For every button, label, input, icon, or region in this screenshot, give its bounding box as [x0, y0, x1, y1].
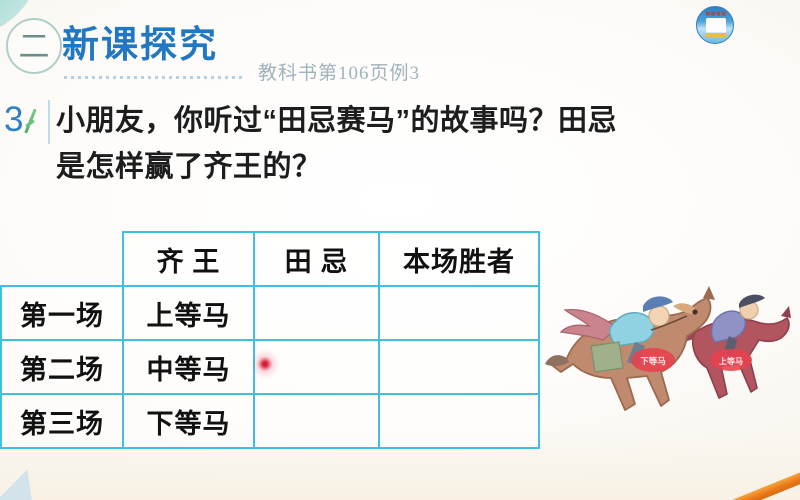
cell-winner-round-1[interactable] [379, 286, 539, 340]
cell-winner-round-3[interactable] [379, 394, 539, 448]
cell-qiwang-round-1: 上等马 [123, 286, 254, 340]
column-header-tianji: 田 忌 [254, 232, 379, 286]
cell-qiwang-round-3: 下等马 [123, 394, 254, 448]
question-line-2: 是怎样赢了齐王的？ [56, 151, 322, 183]
horse-front [545, 286, 715, 410]
horse-badge-xiadengma: 下等马 [631, 348, 675, 372]
row-label-round-2: 第二场 [1, 340, 123, 394]
table-corner-cell [1, 232, 123, 286]
race-results-table: 齐 王 田 忌 本场胜者 第一场 上等马 第二场 中等马 第三场 下等马 [0, 231, 540, 449]
textbook-reference: 教科书第106页例3 [258, 58, 420, 85]
column-header-winner: 本场胜者 [379, 232, 539, 286]
row-label-round-3: 第三场 [1, 394, 123, 448]
question-line-1: 小朋友，你听过“田忌赛马”的故事吗？田忌 [56, 105, 617, 137]
section-number-badge: 二 [6, 18, 62, 74]
cell-qiwang-round-2: 中等马 [123, 340, 254, 394]
laser-pointer-cursor [258, 357, 272, 371]
school-logo-icon: ▩▩▩▩ [696, 6, 734, 44]
slide-canvas: 二 新课探究 教科书第106页例3 ▩▩▩▩ 3 小朋友，你听过“田忌赛马”的故… [0, 0, 800, 500]
green-check-tail-icon [25, 119, 35, 127]
logo-base-shape [705, 33, 727, 37]
question-number: 3 [4, 100, 23, 140]
row-label-round-1: 第一场 [1, 286, 123, 340]
horse-race-illustration: 上等马 下等马 [543, 272, 795, 427]
section-number-text: 二 [19, 31, 50, 62]
cell-tianji-round-1[interactable] [254, 286, 379, 340]
cell-tianji-round-2[interactable] [254, 340, 379, 394]
title-dotted-underline [64, 76, 244, 79]
table-header-row: 齐 王 田 忌 本场胜者 [1, 232, 539, 286]
triangle-ruler-icon [0, 469, 32, 500]
logo-book-shape [706, 18, 726, 32]
question-text: 小朋友，你听过“田忌赛马”的故事吗？田忌 是怎样赢了齐王的？ [56, 98, 800, 190]
logo-chars: ▩▩▩▩ [697, 11, 734, 17]
page-title: 新课探究 [62, 22, 218, 68]
horse-badge-shangdengma: 上等马 [710, 349, 752, 371]
table-row: 第一场 上等马 [1, 286, 539, 340]
cell-winner-round-2[interactable] [379, 340, 539, 394]
cell-tianji-round-3[interactable] [254, 394, 379, 448]
svg-text:下等马: 下等马 [640, 356, 666, 366]
slide-header: 二 新课探究 教科书第106页例3 ▩▩▩▩ [0, 0, 800, 92]
table-row: 第三场 下等马 [1, 394, 539, 448]
svg-text:上等马: 上等马 [719, 356, 743, 366]
column-header-qiwang: 齐 王 [123, 232, 254, 286]
question-number-marker: 3 [2, 100, 50, 144]
